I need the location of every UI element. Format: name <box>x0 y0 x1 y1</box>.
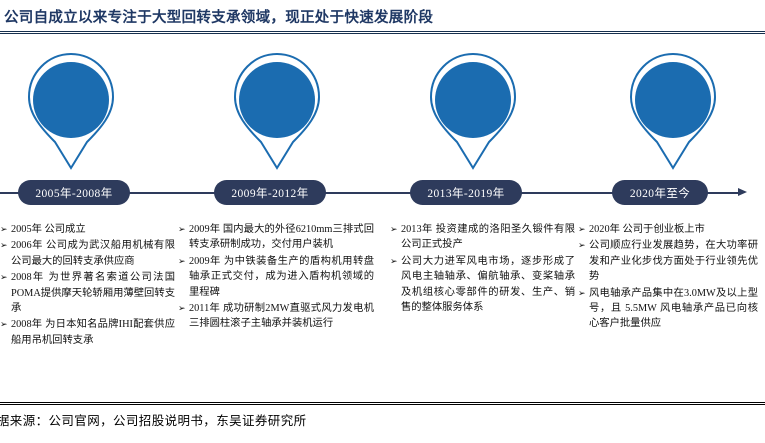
list-item: ➢2013年 投资建成的洛阳圣久锻件有限公司正式投产 <box>390 222 575 253</box>
arrow-bullet-icon: ➢ <box>390 222 401 253</box>
list-item-text: 2011年 成功研制2MW直驱式风力发电机三排圆柱滚子主轴承并装机运行 <box>189 301 374 332</box>
footer-divider <box>0 402 765 405</box>
arrow-bullet-icon: ➢ <box>178 301 189 332</box>
arrow-bullet-icon: ➢ <box>0 270 11 316</box>
arrow-bullet-icon: ➢ <box>578 238 589 284</box>
list-item-text: 公司顺应行业发展趋势，在大功率研发和产业化步伐方面处于行业领先优势 <box>589 238 758 284</box>
list-item: ➢2005年 公司成立 <box>0 222 175 237</box>
pin-circle-4 <box>635 62 711 138</box>
list-item-text: 2009年 为中铁装备生产的盾构机用转盘轴承正式交付，成为进入盾构机领域的里程碑 <box>189 254 374 300</box>
list-item-text: 2006年 公司成为武汉船用机械有限公司最大的回转支承供应商 <box>11 238 175 269</box>
list-item-text: 2005年 公司成立 <box>11 222 175 237</box>
timeline-detail-column-2: ➢2009年 国内最大的外径6210mm三排式回转支承研制成功，交付用户装机➢2… <box>178 222 374 333</box>
pin-circle-2 <box>239 62 315 138</box>
arrow-bullet-icon: ➢ <box>390 254 401 316</box>
timeline-detail-column-4: ➢2020年 公司于创业板上市➢公司顺应行业发展趋势，在大功率研发和产业化步伐方… <box>578 222 758 333</box>
list-item: ➢风电轴承产品集中在3.0MW及以上型号，且 5.5MW 风电轴承产品已向核心客… <box>578 286 758 332</box>
list-item: ➢2008年 为世界著名索道公司法国POMA提供摩天轮轿厢用薄壁回转支承 <box>0 270 175 316</box>
arrow-bullet-icon: ➢ <box>178 254 189 300</box>
list-item-text: 2013年 投资建成的洛阳圣久锻件有限公司正式投产 <box>401 222 575 253</box>
list-item: ➢公司顺应行业发展趋势，在大功率研发和产业化步伐方面处于行业领先优势 <box>578 238 758 284</box>
timeline-pin-1 <box>7 52 135 187</box>
list-item: ➢2009年 国内最大的外径6210mm三排式回转支承研制成功，交付用户装机 <box>178 222 374 253</box>
timeline-pin-2 <box>213 52 341 187</box>
arrow-bullet-icon: ➢ <box>0 222 11 237</box>
arrow-bullet-icon: ➢ <box>0 317 11 348</box>
arrow-bullet-icon: ➢ <box>0 238 11 269</box>
arrow-bullet-icon: ➢ <box>178 222 189 253</box>
list-item-text: 公司大力进军风电市场，逐步形成了风电主轴轴承、偏航轴承、变桨轴承及机组核心零部件… <box>401 254 575 316</box>
list-item: ➢2006年 公司成为武汉船用机械有限公司最大的回转支承供应商 <box>0 238 175 269</box>
arrow-bullet-icon: ➢ <box>578 286 589 332</box>
list-item-text: 2008年 为世界著名索道公司法国POMA提供摩天轮轿厢用薄壁回转支承 <box>11 270 175 316</box>
timeline-pin-3 <box>409 52 537 187</box>
pin-circle-3 <box>435 62 511 138</box>
timeline-date-pill-4: 2020年至今 <box>612 180 708 205</box>
arrow-bullet-icon: ➢ <box>578 222 589 237</box>
source-note: 数据来源：公司官网，公司招股说明书，东吴证券研究所 <box>0 410 307 429</box>
timeline-pin-4 <box>609 52 737 187</box>
pin-circle-1 <box>33 62 109 138</box>
timeline-date-pill-1: 2005年-2008年 <box>18 180 130 205</box>
timeline-date-pill-2: 2009年-2012年 <box>214 180 326 205</box>
arrow-right-icon <box>738 188 747 196</box>
timeline-detail-column-3: ➢2013年 投资建成的洛阳圣久锻件有限公司正式投产➢公司大力进军风电市场，逐步… <box>390 222 575 316</box>
list-item-text: 2008年 为日本知名品牌IHI配套供应船用吊机回转支承 <box>11 317 175 348</box>
list-item: ➢2011年 成功研制2MW直驱式风力发电机三排圆柱滚子主轴承并装机运行 <box>178 301 374 332</box>
list-item-text: 2020年 公司于创业板上市 <box>589 222 758 237</box>
list-item: ➢公司大力进军风电市场，逐步形成了风电主轴轴承、偏航轴承、变桨轴承及机组核心零部… <box>390 254 575 316</box>
timeline-date-pill-3: 2013年-2019年 <box>410 180 522 205</box>
list-item-text: 风电轴承产品集中在3.0MW及以上型号，且 5.5MW 风电轴承产品已向核心客户… <box>589 286 758 332</box>
timeline-detail-column-1: ➢2005年 公司成立➢2006年 公司成为武汉船用机械有限公司最大的回转支承供… <box>0 222 175 349</box>
list-item: ➢2008年 为日本知名品牌IHI配套供应船用吊机回转支承 <box>0 317 175 348</box>
page-title: 公司自成立以来专注于大型回转支承领域，现正处于快速发展阶段 <box>4 6 433 27</box>
list-item-text: 2009年 国内最大的外径6210mm三排式回转支承研制成功，交付用户装机 <box>189 222 374 253</box>
header-divider <box>0 31 765 34</box>
list-item: ➢2009年 为中铁装备生产的盾构机用转盘轴承正式交付，成为进入盾构机领域的里程… <box>178 254 374 300</box>
list-item: ➢2020年 公司于创业板上市 <box>578 222 758 237</box>
